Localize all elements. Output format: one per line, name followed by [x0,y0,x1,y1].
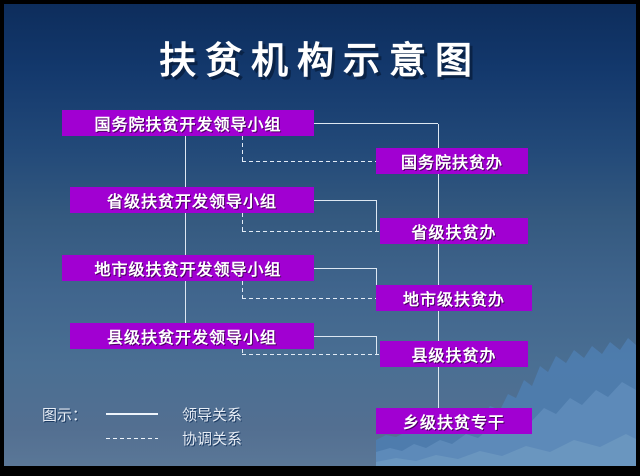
node-label: 省级扶贫办 [411,219,496,243]
node-off-town[interactable]: 乡级扶贫专干 [376,408,532,434]
connector-lg-province-out [314,200,376,201]
slide-background: 扶贫机构示意图 国务院扶贫开发领导小组 省级扶贫开发领导小组 [4,4,636,466]
node-label: 地市级扶贫办 [403,286,505,310]
connector-dash-province-drop [242,213,243,231]
connector-lg-state-out [314,123,438,124]
node-lg-city[interactable]: 地市级扶贫开发领导小组 [62,255,314,281]
slide-canvas: 扶贫机构示意图 国务院扶贫开发领导小组 省级扶贫开发领导小组 [0,0,640,476]
connector-left-spine [185,136,186,323]
node-lg-state[interactable]: 国务院扶贫开发领导小组 [62,110,314,136]
connector-dash-province [242,231,380,232]
page-title: 扶贫机构示意图 [4,30,636,84]
connector-dash-state-drop [242,136,243,162]
legend-caption: 图示： [42,404,106,425]
node-off-state[interactable]: 国务院扶贫办 [376,148,528,174]
connector-lg-county-out [314,336,376,337]
node-label: 省级扶贫开发领导小组 [107,188,277,212]
legend-row-coordination: 协调关系 [42,426,242,450]
node-label: 地市级扶贫开发领导小组 [94,256,281,280]
node-lg-county[interactable]: 县级扶贫开发领导小组 [70,323,314,349]
legend: 图示： 领导关系 协调关系 [42,402,242,450]
node-label: 县级扶贫开发领导小组 [107,324,277,348]
node-label: 县级扶贫办 [411,342,496,366]
node-lg-province[interactable]: 省级扶贫开发领导小组 [70,187,314,213]
connector-dash-state [242,161,376,162]
node-off-city[interactable]: 地市级扶贫办 [376,285,532,311]
connector-dash-county [242,354,380,355]
solid-line-icon [106,413,158,415]
legend-sample-dashed [106,438,164,439]
node-label: 乡级扶贫专干 [403,409,505,433]
legend-row-leadership: 图示： 领导关系 [42,402,242,426]
node-off-province[interactable]: 省级扶贫办 [380,218,528,244]
node-label: 国务院扶贫开发领导小组 [94,111,281,135]
legend-sample-solid [106,413,164,415]
node-off-county[interactable]: 县级扶贫办 [380,341,528,367]
node-label: 国务院扶贫办 [401,149,503,173]
connector-dash-city [242,298,376,299]
legend-label-coordination: 协调关系 [182,428,242,449]
connector-dash-city-drop [242,281,243,298]
connector-lg-city-out [314,268,376,269]
connector-elbow-county [376,336,377,354]
legend-label-leadership: 领导关系 [182,404,242,425]
dashed-line-icon [106,438,158,439]
connector-elbow-province [376,200,377,231]
